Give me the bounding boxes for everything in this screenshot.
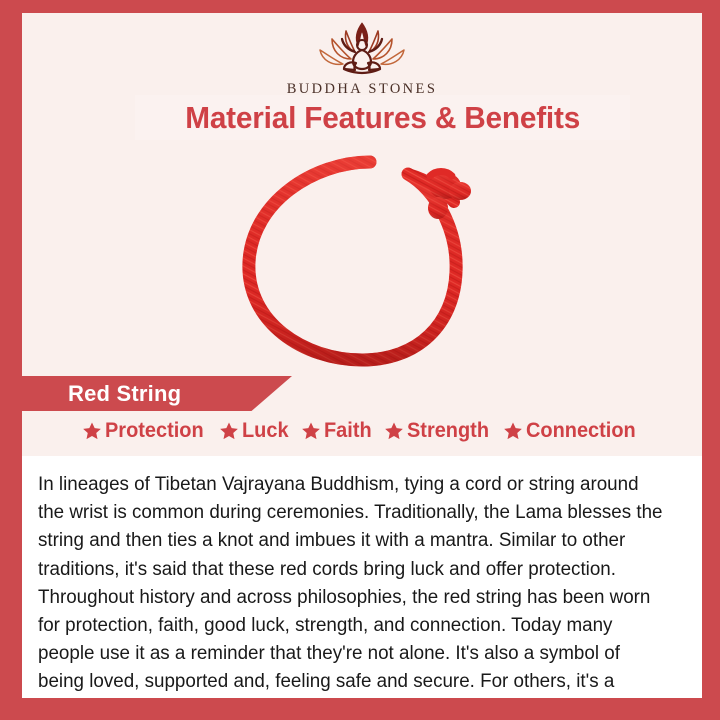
feature-item-faith: Faith [301,419,374,443]
frame-border-bottom [0,698,720,720]
feature-item-protection: Protection [82,419,209,443]
feature-label: Faith [324,419,372,443]
title-band: Material Features & Benefits [135,95,630,140]
star-icon [82,421,102,441]
feature-item-connection: Connection [503,419,642,443]
page-title: Material Features & Benefits [185,100,580,136]
brand-logo: BUDDHA STONES [22,19,702,98]
content-canvas: BUDDHA STONES Material Features & Benefi… [22,13,702,698]
features-list: Protection Luck Faith Strength [22,419,702,443]
star-icon [219,421,239,441]
feature-label: Strength [407,419,489,443]
infographic-page: BUDDHA STONES Material Features & Benefi… [0,0,720,720]
ribbon-label: Red String [68,381,181,407]
lotus-meditation-figure-icon [310,19,414,79]
frame-border-top [0,0,720,13]
feature-label: Connection [526,419,636,443]
feature-label: Luck [242,419,289,443]
star-icon [384,421,404,441]
description-text: In lineages of Tibetan Vajrayana Buddhis… [38,471,666,698]
ribbon-banner: Red String [22,376,292,411]
feature-item-strength: Strength [384,419,493,443]
frame-border-left [0,0,22,720]
product-image-area [22,143,702,378]
red-braided-cord-bracelet-image [222,146,502,376]
feature-label: Protection [105,419,204,443]
feature-item-luck: Luck [219,419,291,443]
star-icon [301,421,321,441]
star-icon [503,421,523,441]
frame-border-right [702,0,720,720]
description-panel: In lineages of Tibetan Vajrayana Buddhis… [22,456,702,698]
